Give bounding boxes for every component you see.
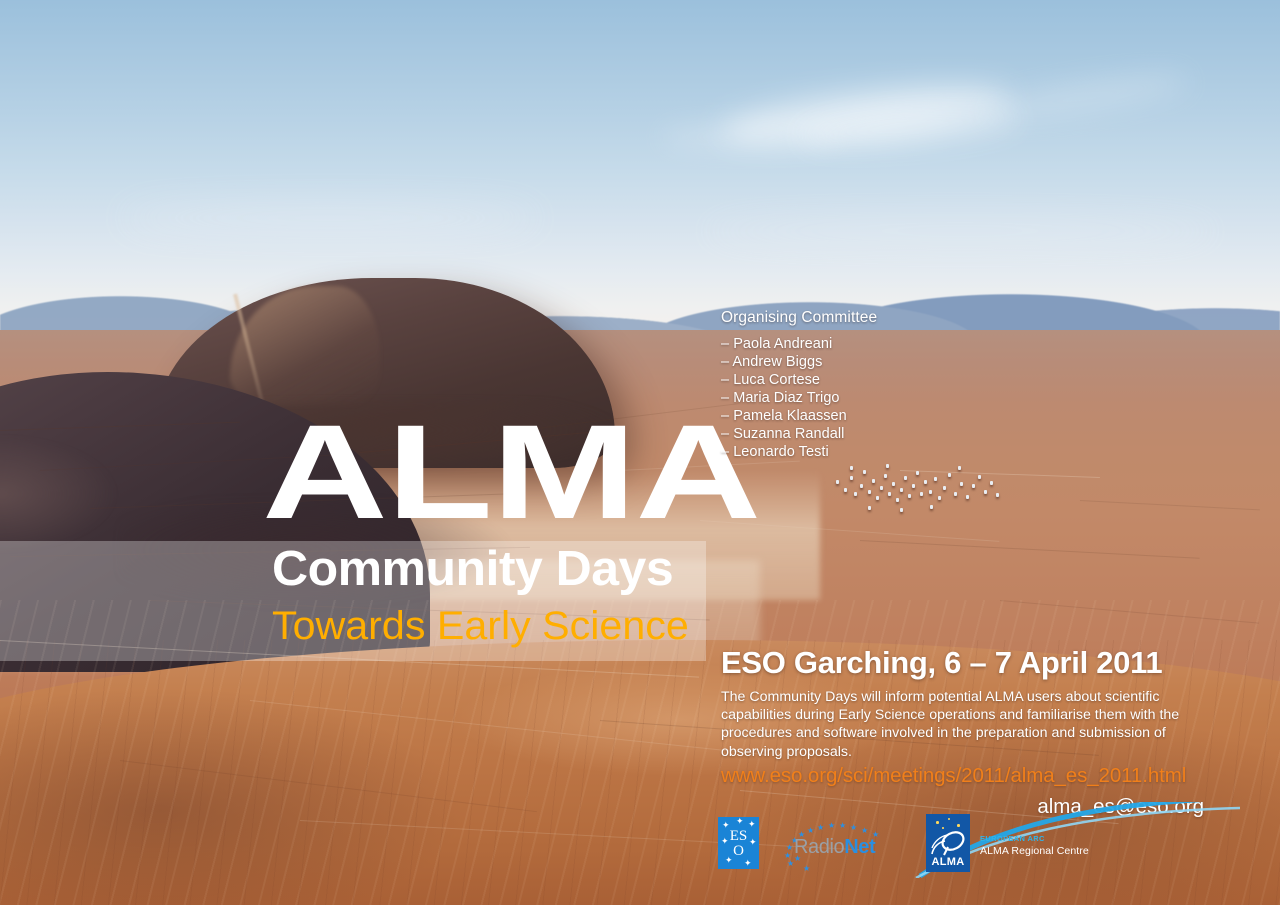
tagline: Towards Early Science	[272, 606, 689, 646]
alma-community-days-poster: ALMA Community Days Towards Early Scienc…	[0, 0, 1280, 905]
alma-antenna-array	[830, 462, 1000, 512]
committee-member: – Leonardo Testi	[721, 445, 877, 460]
antenna-dot	[996, 493, 999, 497]
antenna-dot	[844, 488, 847, 492]
committee-member: – Paola Andreani	[721, 337, 877, 352]
logo-strip: ✦ ✦ ✦ ✦ ✦ ✦ ✦ ES O ★★★★★★★★★★★★★★ RadioN…	[718, 812, 1238, 882]
european-arc-line2: ALMA Regional Centre	[980, 845, 1089, 857]
committee-member: – Andrew Biggs	[721, 355, 877, 370]
subtitle: Community Days	[272, 545, 673, 594]
antenna-dot	[984, 490, 987, 494]
antenna-dot	[876, 496, 879, 500]
committee-member: – Suzanna Randall	[721, 427, 877, 442]
haze-band	[120, 205, 540, 231]
haze-band	[700, 220, 1220, 242]
antenna-dot	[990, 481, 993, 485]
antenna-dot	[854, 492, 857, 496]
star-icon: ✦	[744, 859, 752, 868]
antenna-dot	[924, 480, 927, 484]
committee-member: – Luca Cortese	[721, 373, 877, 388]
antenna-dot	[872, 479, 875, 483]
radionet-star-icon: ★	[839, 822, 846, 830]
antenna-dot	[836, 480, 839, 484]
radionet-star-icon: ★	[850, 824, 857, 832]
organising-committee-heading: Organising Committee	[721, 310, 877, 326]
antenna-dot	[863, 470, 866, 474]
event-url-link[interactable]: www.eso.org/sci/meetings/2011/alma_es_20…	[721, 764, 1186, 788]
eso-logo: ✦ ✦ ✦ ✦ ✦ ✦ ✦ ES O	[718, 817, 759, 869]
antenna-dot	[900, 488, 903, 492]
antenna-dot	[954, 492, 957, 496]
european-arc-text: EUROPEAN ARC ALMA Regional Centre	[980, 834, 1089, 857]
antenna-dot	[868, 506, 871, 510]
radionet-star-icon: ★	[803, 865, 810, 873]
antenna-dot	[904, 476, 907, 480]
antenna-dot	[880, 486, 883, 490]
radionet-star-icon: ★	[817, 824, 824, 832]
antenna-dot	[884, 474, 887, 478]
antenna-dot	[943, 486, 946, 490]
antenna-dot	[934, 477, 937, 481]
radionet-star-icon: ★	[828, 822, 835, 830]
antenna-dot	[916, 471, 919, 475]
page-title: ALMA	[262, 406, 760, 540]
radionet-wordmark: RadioNet	[794, 836, 875, 859]
cloud	[660, 126, 840, 148]
organising-committee-list: – Paola Andreani– Andrew Biggs– Luca Cor…	[721, 337, 877, 460]
radionet-star-icon: ★	[786, 844, 793, 852]
event-description: The Community Days will inform potential…	[721, 688, 1213, 761]
committee-member: – Maria Diaz Trigo	[721, 391, 877, 406]
radionet-word-radio: Radio	[794, 836, 844, 858]
antenna-dot	[860, 484, 863, 488]
alma-logo: ALMA	[926, 814, 970, 872]
radionet-star-icon: ★	[807, 827, 814, 835]
antenna-dot	[908, 494, 911, 498]
antenna-dot	[892, 482, 895, 486]
antenna-dot	[886, 464, 889, 468]
antenna-dot	[912, 484, 915, 488]
antenna-dot	[920, 492, 923, 496]
committee-member: – Pamela Klaassen	[721, 409, 877, 424]
antenna-dot	[900, 508, 903, 512]
antenna-dot	[888, 492, 891, 496]
radionet-logo: ★★★★★★★★★★★★★★ RadioNet	[782, 822, 902, 864]
antenna-dot	[930, 505, 933, 509]
antenna-dot	[966, 495, 969, 499]
antenna-dot	[850, 476, 853, 480]
antenna-dot	[958, 466, 961, 470]
antenna-dot	[972, 484, 975, 488]
antenna-dot	[978, 475, 981, 479]
venue-date: ESO Garching, 6 – 7 April 2011	[721, 645, 1162, 681]
antenna-dot	[868, 490, 871, 494]
radionet-star-icon: ★	[861, 827, 868, 835]
antenna-dot	[948, 473, 951, 477]
antenna-dot	[960, 482, 963, 486]
european-arc-line1: EUROPEAN ARC	[980, 834, 1089, 843]
alma-logo-label: ALMA	[926, 856, 970, 868]
antenna-dot	[929, 490, 932, 494]
eso-logo-line2: O	[718, 843, 759, 860]
antenna-dot	[896, 498, 899, 502]
star-icon: ✦	[736, 817, 744, 826]
antenna-dot	[850, 466, 853, 470]
organising-committee: Organising Committee – Paola Andreani– A…	[721, 310, 877, 463]
antenna-dot	[938, 496, 941, 500]
radionet-word-net: Net	[844, 836, 875, 858]
